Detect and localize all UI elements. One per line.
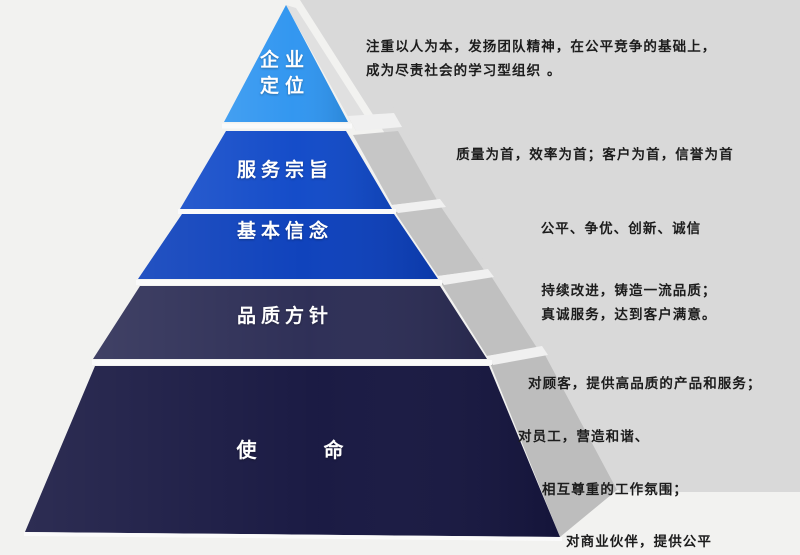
gloss-tier-4 (93, 286, 487, 359)
pyramid-graphic (0, 0, 800, 555)
gloss-tier-3 (138, 214, 438, 279)
pyramid-diagram: 企业 定位 服务宗旨 基本信念 品质方针 使 命 注重以人为本，发扬团队精神，在… (0, 0, 800, 555)
gloss-tier-5 (25, 366, 560, 537)
